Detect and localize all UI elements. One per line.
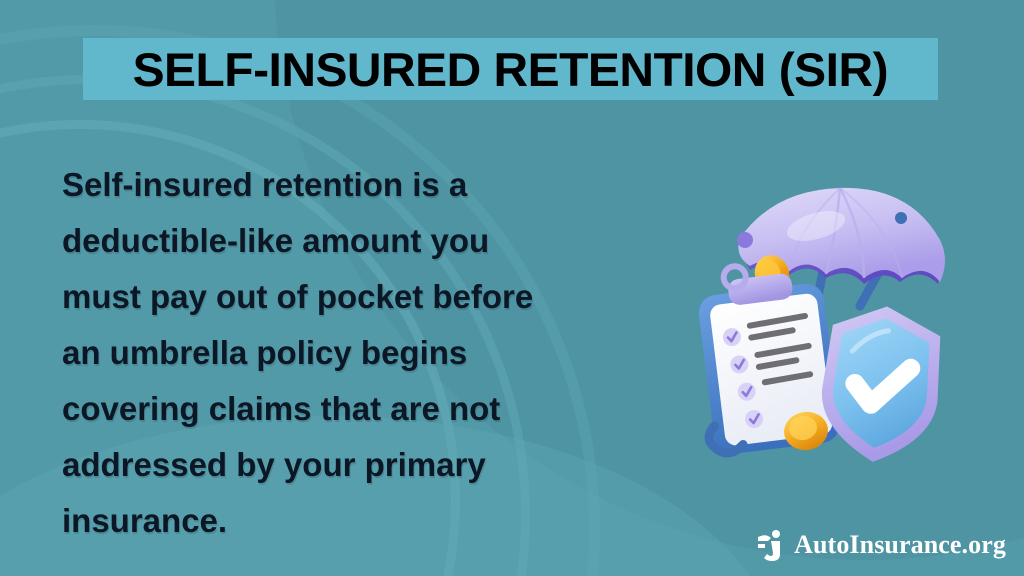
title-highlight-band: SELF-INSURED RETENTION (SIR): [83, 38, 938, 100]
brand-name: AutoInsurance.org: [794, 530, 1006, 560]
aj-monogram-icon: [755, 528, 785, 562]
body-line: Self-insured retention is a: [62, 157, 662, 213]
body-line: covering claims that are not: [62, 381, 662, 437]
body-line: addressed by your primary: [62, 437, 662, 493]
body-line: deductible-like amount you: [62, 213, 662, 269]
page-title: SELF-INSURED RETENTION (SIR): [133, 42, 888, 97]
body-line: insurance.: [62, 493, 662, 549]
shield-check-icon: [815, 301, 947, 468]
brand-logo[interactable]: AutoInsurance.org: [755, 528, 1006, 562]
umbrella-clipboard-shield-coins-illustration: [688, 178, 998, 478]
body-paragraph: Self-insured retention is a deductible-l…: [62, 157, 662, 549]
body-line: an umbrella policy begins: [62, 325, 662, 381]
body-line: must pay out of pocket before: [62, 269, 662, 325]
infographic-card: SELF-INSURED RETENTION (SIR) Self-insure…: [0, 0, 1024, 576]
